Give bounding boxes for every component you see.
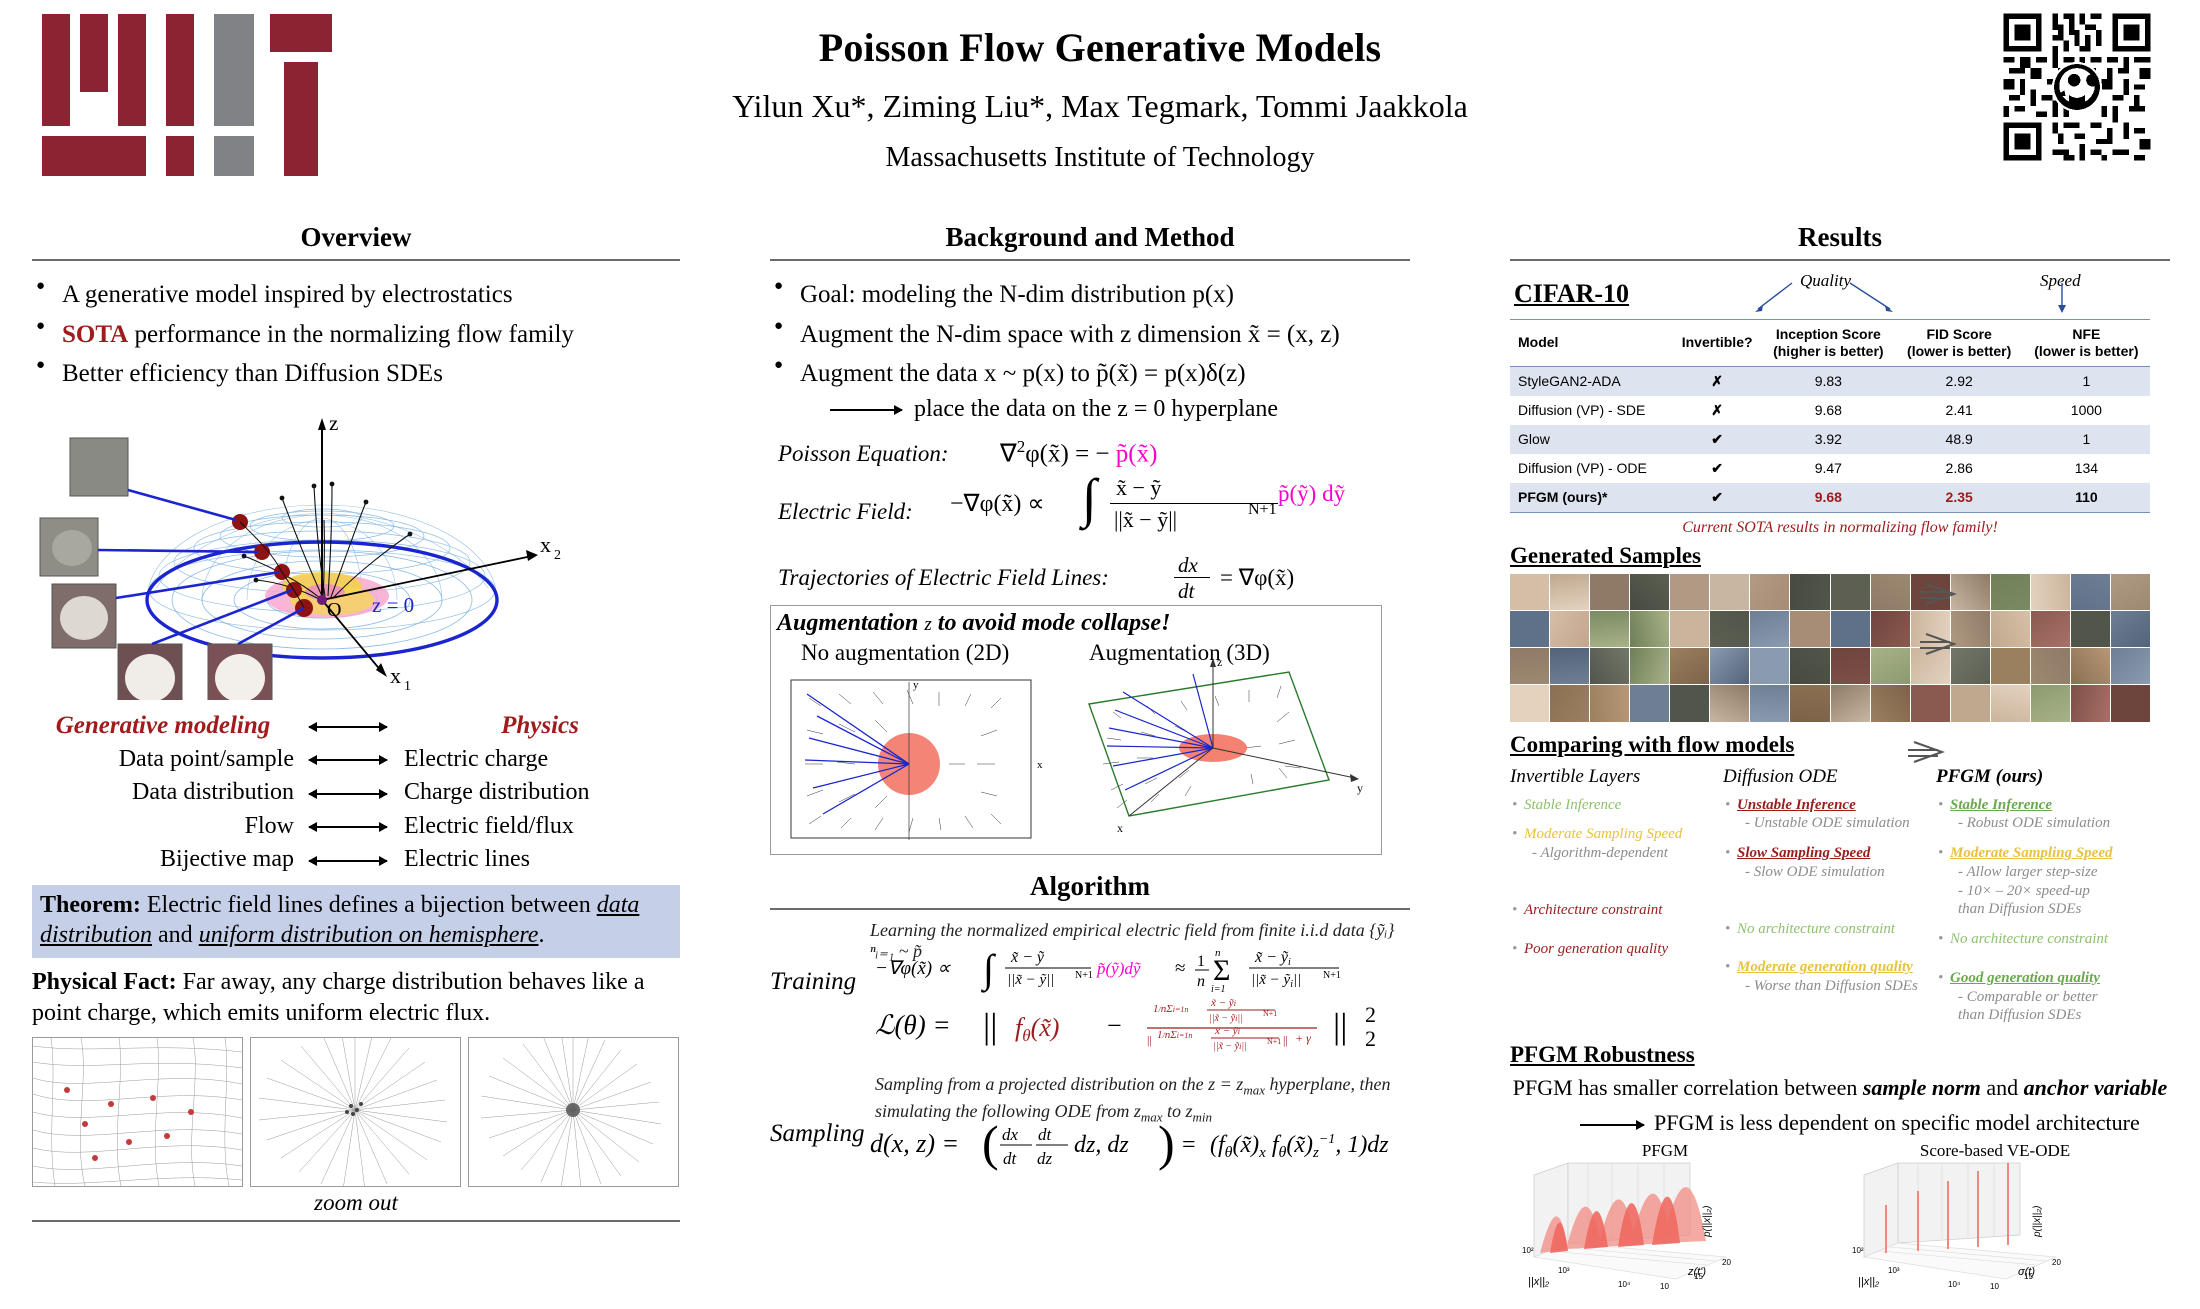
robustness-line2-wrap: PFGM is less dependent on specific model… xyxy=(1510,1109,2170,1138)
svg-text:||: || xyxy=(1147,1033,1152,1047)
comparison-item: Stable Inference xyxy=(1510,796,1723,815)
comparison-item-text: Poor generation quality xyxy=(1524,941,1668,957)
generated-sample-tile xyxy=(1510,685,1549,721)
svg-text:x̃ − ỹi: x̃ − ỹi xyxy=(1254,949,1291,968)
svg-text:x̃ − ỹi: x̃ − ỹi xyxy=(1210,997,1236,1009)
svg-text:||x̃ − ỹi||: ||x̃ − ỹi|| xyxy=(1209,1013,1243,1024)
cell-fid: 2.41 xyxy=(1896,396,2023,425)
bullet-text: A generative model inspired by electrost… xyxy=(62,281,513,308)
correspondence-right: Electric charge xyxy=(396,746,676,772)
cell-invertible: ✔ xyxy=(1673,483,1761,513)
robustness-line2: PFGM is less dependent on specific model… xyxy=(1654,1110,2140,1135)
zoom-out-caption: zoom out xyxy=(32,1190,680,1216)
comparison-item-text: No architecture constraint xyxy=(1737,921,1895,937)
bullet-text: Augment the data x ~ p(x) to p̃(x̃) = p(… xyxy=(800,360,1246,387)
col-header-invertible: Invertible? xyxy=(1673,320,1761,367)
electric-field-numerator: x̃ − ỹ xyxy=(1116,475,1161,501)
svg-text:dt: dt xyxy=(1038,1125,1053,1144)
svg-text:d(x, z) =: d(x, z) = xyxy=(870,1129,959,1158)
field-plot-near xyxy=(32,1037,243,1187)
generated-sample-tile xyxy=(1590,685,1629,721)
comparison-item-text: Moderate Sampling Speed xyxy=(1950,845,2113,861)
plane-label: z = 0 xyxy=(372,593,414,617)
robustness-bold-1: sample norm xyxy=(1863,1075,1981,1100)
svg-text:2: 2 xyxy=(1365,1002,1376,1027)
generated-sample-tile xyxy=(1750,574,1789,610)
comparison-item: Architecture constraint xyxy=(1510,901,1723,920)
generated-sample-tile xyxy=(1550,685,1589,721)
fact-label: Physical Fact: xyxy=(32,969,177,995)
comparison-item-text: Moderate generation quality xyxy=(1737,959,1913,975)
cell-inception: 3.92 xyxy=(1761,425,1896,454)
z-axis-label: p(||x||₂) xyxy=(1702,1206,1713,1238)
table-row: Flow Electric field/flux xyxy=(32,813,680,839)
comparison-item-sub: - Worse than Diffusion SDEs xyxy=(1737,977,1936,996)
svg-text:n: n xyxy=(1215,947,1221,959)
generated-sample-tile xyxy=(1790,685,1829,721)
comparison-item-text: Moderate Sampling Speed xyxy=(1524,826,1682,842)
x-tick: 10⁴ xyxy=(1948,1280,1961,1289)
cell-nfe: 1 xyxy=(2023,366,2150,396)
correspondence-right: Electric lines xyxy=(396,846,676,872)
generated-sample-tile xyxy=(2111,574,2150,610)
generated-sample-tile xyxy=(1630,685,1669,721)
trajectory-label: Trajectories of Electric Field Lines: xyxy=(778,565,1109,591)
comparison-item: Moderate generation quality - Worse than… xyxy=(1723,958,1936,996)
overview-heading: Overview xyxy=(32,222,680,253)
comparison-item-text: Slow Sampling Speed xyxy=(1737,845,1870,861)
generated-sample-tile xyxy=(2071,611,2110,647)
double-arrow-icon xyxy=(300,813,396,839)
correspondence-left: Bijective map xyxy=(32,846,300,872)
electric-field-tail: p̃(ỹ) dỹ xyxy=(1278,481,1345,507)
theorem-emphasis-2: uniform distribution on hemisphere xyxy=(199,922,539,948)
training-equation-top: −∇φ(x̃) ∝ ∫ x̃ − ỹ ||x̃ − ỹ|| N+1 p̃(y… xyxy=(875,944,1405,996)
list-item: SOTA performance in the normalizing flow… xyxy=(32,317,680,353)
generated-sample-tile xyxy=(1951,574,1990,610)
svg-text:||x̃ − ỹ||: ||x̃ − ỹ|| xyxy=(1007,972,1054,988)
x-tick: 10² xyxy=(1522,1246,1534,1255)
method-sub-arrow-line: place the data on the z = 0 hyperplane xyxy=(770,396,1410,423)
comparison-item: Slow Sampling Speed - Slow ODE simulatio… xyxy=(1723,844,1936,882)
electric-field-denominator: ||x̃ − ỹ|| xyxy=(1114,507,1177,533)
generated-sample-tile xyxy=(1710,611,1749,647)
col-header-nfe: NFE (lower is better) xyxy=(2023,320,2150,367)
svg-text:||: || xyxy=(1333,1006,1347,1046)
zoom-out-rule xyxy=(32,1220,680,1222)
generated-sample-tile xyxy=(1630,574,1669,610)
sampling-equation: d(x, z) = ( dx dt dt dz dz, dz ) = (fθ(x… xyxy=(870,1114,1410,1174)
sampling-caption-1c: hyperplane, then xyxy=(1265,1074,1390,1094)
cell-model: StyleGAN2-ADA xyxy=(1510,366,1673,396)
cell-fid: 2.86 xyxy=(1896,454,2023,483)
cell-fid: 2.92 xyxy=(1896,366,2023,396)
poster-root: Poisson Flow Generative Models Yilun Xu*… xyxy=(0,0,2200,1309)
generated-sample-tile xyxy=(2071,574,2110,610)
x-axis-label: ||x||₂ xyxy=(1858,1276,1880,1288)
col-header-fid-main: FID Score xyxy=(1926,326,1991,342)
comparison-item: Moderate Sampling Speed - Algorithm-depe… xyxy=(1510,825,1723,863)
x-tick: 10³ xyxy=(1558,1266,1570,1275)
cell-inception: 9.83 xyxy=(1761,366,1896,396)
generated-sample-tile xyxy=(1550,648,1589,684)
axis-label-x: x xyxy=(1037,759,1043,771)
axis-label-z: z xyxy=(1217,656,1222,669)
table-header-row: Model Invertible? Inception Score (highe… xyxy=(1510,320,2150,367)
comparison-item-text: No architecture constraint xyxy=(1950,931,2108,947)
origin-label: O xyxy=(327,599,341,621)
annotation-arrows xyxy=(1510,269,2150,317)
cell-invertible: ✗ xyxy=(1673,396,1761,425)
generated-sample-tile xyxy=(1670,648,1709,684)
svg-text:p̃(ỹ)dỹ: p̃(ỹ)dỹ xyxy=(1096,959,1141,978)
affiliation: Massachusetts Institute of Technology xyxy=(400,142,1800,174)
x-tick: 10² xyxy=(1852,1246,1864,1255)
theorem-text-2: and xyxy=(152,922,199,948)
algorithm-training-block: Training Learning the normalized empiric… xyxy=(770,920,1410,1060)
generated-sample-tile xyxy=(1710,648,1749,684)
col-header-nfe-sub: (lower is better) xyxy=(2034,343,2138,359)
generated-sample-tile xyxy=(1750,685,1789,721)
generated-sample-tile xyxy=(1951,685,1990,721)
comparison-item: Good generation quality - Comparable or … xyxy=(1936,969,2149,1025)
svg-text:N+1: N+1 xyxy=(1075,970,1093,981)
right-arrow-icon xyxy=(830,409,902,411)
generated-sample-tile xyxy=(1991,648,2030,684)
generated-sample-tile xyxy=(1911,648,1950,684)
list-item: A generative model inspired by electrost… xyxy=(32,277,680,313)
x-tick: 10³ xyxy=(1888,1266,1900,1275)
generated-sample-tile xyxy=(1991,685,2030,721)
z-axis-label: p(||x||₂) xyxy=(2032,1206,2043,1238)
method-heading: Background and Method xyxy=(770,222,1410,253)
cell-nfe: 110 xyxy=(2023,483,2150,513)
table-row: Diffusion (VP) - SDE ✗ 9.68 2.41 1000 xyxy=(1510,396,2150,425)
generated-sample-tile xyxy=(1831,611,1870,647)
cell-nfe: 134 xyxy=(2023,454,2150,483)
svg-text:N+1: N+1 xyxy=(1323,970,1341,981)
robustness-line1: PFGM has smaller correlation between sam… xyxy=(1510,1074,2170,1103)
theorem-label: Theorem: xyxy=(40,892,141,918)
generated-sample-tile xyxy=(2071,648,2110,684)
axis-label-z: z xyxy=(329,411,338,435)
cell-model: Diffusion (VP) - SDE xyxy=(1510,396,1673,425)
trajectory-numerator: dx xyxy=(1178,553,1198,578)
svg-text:−∇φ(x̃) ∝: −∇φ(x̃) ∝ xyxy=(875,958,951,979)
bullet-text: Better efficiency than Diffusion SDEs xyxy=(62,360,443,387)
col-header-fid-sub: (lower is better) xyxy=(1907,343,2011,359)
double-arrow-icon xyxy=(300,846,396,872)
physical-fact: Physical Fact: Far away, any charge dist… xyxy=(32,967,680,1029)
generated-sample-tile xyxy=(1831,648,1870,684)
generated-sample-tile xyxy=(1911,574,1950,610)
comparison-item-sub: - Algorithm-dependent xyxy=(1524,844,1723,863)
col-header-inception: Inception Score (higher is better) xyxy=(1761,320,1896,367)
svg-text:n: n xyxy=(1197,973,1205,990)
augmentation-title-pre: Augmentation xyxy=(777,610,924,636)
svg-text:dt: dt xyxy=(1003,1149,1018,1168)
robustness-plot-veode: Score-based VE-ODE xyxy=(1840,1141,2150,1302)
list-item: Goal: modeling the N-dim distribution p(… xyxy=(770,277,1410,313)
correspondence-left-header: Generative modeling xyxy=(32,712,300,740)
svg-text:dz: dz xyxy=(1037,1149,1053,1168)
svg-text:N+1: N+1 xyxy=(1263,1009,1277,1018)
double-arrow-icon xyxy=(300,779,396,805)
comparison-column-invertible: Invertible Layers Stable Inference Moder… xyxy=(1510,766,1723,1037)
cell-fid: 48.9 xyxy=(1896,425,2023,454)
comparison-item-text: Stable Inference xyxy=(1950,797,2052,813)
svg-text:||: || xyxy=(983,1006,997,1046)
bullet-text: Goal: modeling the N-dim distribution p(… xyxy=(800,281,1234,308)
method-sub-arrow-text: place the data on the z = 0 hyperplane xyxy=(914,396,1278,422)
column-results: Results CIFAR-10 Quality Speed Model xyxy=(1510,222,2170,1302)
comparison-item-text: Good generation quality xyxy=(1950,970,2100,986)
svg-text:∫: ∫ xyxy=(980,946,997,993)
column-method: Background and Method Goal: modeling the… xyxy=(770,222,1410,1182)
augmentation-figure-box: Augmentation z to avoid mode collapse! N… xyxy=(770,605,1382,855)
svg-text:1/nΣi=1n: 1/nΣi=1n xyxy=(1153,1003,1188,1015)
col-header-fid: FID Score (lower is better) xyxy=(1896,320,2023,367)
augmentation-title-post: to avoid mode collapse! xyxy=(932,610,1171,636)
generated-sample-tile xyxy=(1911,611,1950,647)
axis-label-x2-sub: 2 xyxy=(554,548,561,563)
svg-text:N+1: N+1 xyxy=(1267,1037,1281,1046)
augmentation-left-caption: No augmentation (2D) xyxy=(801,640,1009,666)
theorem-text-3: . xyxy=(538,922,544,948)
svg-text:1: 1 xyxy=(1197,953,1205,970)
results-table: Model Invertible? Inception Score (highe… xyxy=(1510,319,2150,513)
comparison-column-header: PFGM (ours) xyxy=(1936,766,2149,788)
y-axis-label: z(t') xyxy=(1687,1266,1706,1278)
table-row: Diffusion (VP) - ODE ✔ 9.47 2.86 134 xyxy=(1510,454,2150,483)
comparison-item-sub: - Comparable or better than Diffusion SD… xyxy=(1950,988,2149,1026)
cell-nfe: 1 xyxy=(2023,425,2150,454)
comparison-item-text: Architecture constraint xyxy=(1524,902,1662,918)
generated-sample-tile xyxy=(1951,611,1990,647)
generated-sample-tile xyxy=(1670,611,1709,647)
augmentation-title-z: z xyxy=(924,614,931,635)
correspondence-left: Data distribution xyxy=(32,779,300,805)
electric-field-label: Electric Field: xyxy=(778,499,913,525)
sampling-label: Sampling xyxy=(770,1120,864,1148)
sampling-caption-1: Sampling from a projected distribution o… xyxy=(875,1074,1243,1094)
x-tick: 10⁴ xyxy=(1618,1280,1631,1289)
correspondence-left: Flow xyxy=(32,813,300,839)
generated-sample-tile xyxy=(2031,611,2070,647)
generated-samples-grid xyxy=(1510,574,2150,722)
comparison-item-text: Unstable Inference xyxy=(1737,797,1856,813)
comparison-item: Moderate Sampling Speed - Allow larger s… xyxy=(1936,844,2149,919)
augmentation-3d-plot: z y x xyxy=(1063,656,1375,846)
table-row: Data distribution Charge distribution xyxy=(32,779,680,805)
generated-sample-tile xyxy=(2071,685,2110,721)
x-axis-label: ||x||₂ xyxy=(1528,1276,1550,1288)
svg-text:fθ(x̃): fθ(x̃) xyxy=(1015,1013,1059,1045)
sota-note: Current SOTA results in normalizing flow… xyxy=(1510,519,2170,537)
y-tick: 20 xyxy=(1722,1258,1731,1267)
table-row: Glow ✔ 3.92 48.9 1 xyxy=(1510,425,2150,454)
augmentation-2d-plot: y x xyxy=(789,672,1059,844)
sota-badge: SOTA xyxy=(62,321,128,348)
generated-sample-tile xyxy=(1951,648,1990,684)
poisson-equation-label: Poisson Equation: xyxy=(778,441,949,467)
training-label: Training xyxy=(770,968,856,996)
generated-sample-tile xyxy=(1590,611,1629,647)
comparison-column-diffusion: Diffusion ODE Unstable Inference - Unsta… xyxy=(1723,766,1936,1037)
results-table-annotations: CIFAR-10 Quality Speed xyxy=(1510,269,2170,317)
col-header-invertible-main: Invertible? xyxy=(1682,334,1753,350)
axis-label-x: x xyxy=(1117,821,1123,835)
algorithm-rule xyxy=(770,908,1410,910)
col-header-model-main: Model xyxy=(1518,334,1558,350)
generated-sample-tile xyxy=(2111,611,2150,647)
svg-text:2: 2 xyxy=(1365,1026,1376,1051)
zoom-out-figure-strip xyxy=(32,1037,680,1187)
results-heading: Results xyxy=(1510,222,2170,253)
generated-sample-tile xyxy=(1550,611,1589,647)
generated-sample-tile xyxy=(2111,685,2150,721)
y-tick: 20 xyxy=(2052,1258,2061,1267)
cell-model: Diffusion (VP) - ODE xyxy=(1510,454,1673,483)
mit-logo xyxy=(42,6,332,176)
col-header-model: Model xyxy=(1510,320,1673,367)
col-header-inception-main: Inception Score xyxy=(1776,326,1881,342)
generated-sample-tile xyxy=(1871,574,1910,610)
robustness-bold-2: anchor variable xyxy=(2024,1075,2168,1100)
double-arrow-icon xyxy=(300,746,396,772)
trajectory-rhs: = ∇φ(x̃) xyxy=(1220,565,1294,591)
cell-model: Glow xyxy=(1510,425,1673,454)
sampling-caption-1b: max xyxy=(1243,1082,1265,1097)
axis-label-y: y xyxy=(1357,781,1363,795)
comparison-item-sub: - Slow ODE simulation xyxy=(1737,863,1936,882)
comparison-column-header: Diffusion ODE xyxy=(1723,766,1936,788)
correspondence-right: Charge distribution xyxy=(396,779,676,805)
robustness-plots: PFGM xyxy=(1510,1141,2170,1302)
bullet-text: Augment the N-dim space with z dimension… xyxy=(800,321,1340,348)
svg-text:dz, dz: dz, dz xyxy=(1074,1132,1129,1158)
svg-text:ℒ(θ) =: ℒ(θ) = xyxy=(875,1010,951,1040)
generated-sample-tile xyxy=(2111,648,2150,684)
github-qr-icon[interactable] xyxy=(1992,8,2162,166)
augmentation-title: Augmentation z to avoid mode collapse! xyxy=(771,606,1381,637)
method-equations: Poisson Equation: ∇2φ(x̃) = − p̃(x̃) Ele… xyxy=(770,437,1410,597)
comparison-item: No architecture constraint xyxy=(1723,920,1936,939)
cell-fid: 2.35 xyxy=(1896,483,2023,513)
col-header-nfe-main: NFE xyxy=(2072,326,2100,342)
svg-text:=: = xyxy=(1182,1132,1196,1158)
comparison-title: Comparing with flow models xyxy=(1510,732,2170,758)
plot-caption: PFGM xyxy=(1510,1141,1820,1161)
comparison-item: Unstable Inference - Unstable ODE simula… xyxy=(1723,796,1936,834)
generated-sample-tile xyxy=(1510,574,1549,610)
axis-label-x1: x xyxy=(390,663,401,688)
field-plot-far xyxy=(468,1037,679,1187)
integral-icon: ∫ xyxy=(1082,471,1097,525)
generated-sample-tile xyxy=(1670,574,1709,610)
generated-sample-tile xyxy=(1510,648,1549,684)
generated-sample-tile xyxy=(1790,574,1829,610)
overview-rule xyxy=(32,259,680,261)
robustness-line1-pre: PFGM has smaller correlation between xyxy=(1513,1075,1863,1100)
generated-sample-tile xyxy=(1831,574,1870,610)
robustness-title: PFGM Robustness xyxy=(1510,1042,2170,1068)
svg-text:−: − xyxy=(1107,1011,1122,1040)
y-tick: 10 xyxy=(1660,1282,1669,1291)
loss-equation: ℒ(θ) = || fθ(x̃) − 1/nΣi=1n x̃ − ỹi ||x… xyxy=(875,992,1415,1062)
generated-sample-tile xyxy=(1710,685,1749,721)
generated-sample-tile xyxy=(1871,648,1910,684)
electric-field-exponent: N+1 xyxy=(1248,501,1277,519)
svg-text:||x̃ − ỹi||: ||x̃ − ỹi|| xyxy=(1251,972,1301,990)
generated-sample-tile xyxy=(1831,685,1870,721)
robustness-plot-pfgm: PFGM xyxy=(1510,1141,1820,1302)
generated-sample-tile xyxy=(1590,648,1629,684)
robustness-line1-mid: and xyxy=(1981,1075,2024,1100)
table-row: StyleGAN2-ADA ✗ 9.83 2.92 1 xyxy=(1510,366,2150,396)
cell-inception: 9.68 xyxy=(1761,483,1896,513)
cell-invertible: ✗ xyxy=(1673,366,1761,396)
algorithm-heading: Algorithm xyxy=(770,871,1410,902)
comparison-grid: Invertible Layers Stable Inference Moder… xyxy=(1510,766,2170,1037)
generated-sample-tile xyxy=(2031,685,2070,721)
page-title: Poisson Flow Generative Models xyxy=(400,24,1800,71)
svg-text:): ) xyxy=(1158,1115,1175,1171)
table-row: Data point/sample Electric charge xyxy=(32,746,680,772)
correspondence-right: Electric field/flux xyxy=(396,813,676,839)
generated-sample-tile xyxy=(1710,574,1749,610)
list-item: Better efficiency than Diffusion SDEs xyxy=(32,356,680,392)
generated-sample-tile xyxy=(1590,574,1629,610)
field-plot-mid xyxy=(250,1037,461,1187)
cell-invertible: ✔ xyxy=(1673,454,1761,483)
cell-model: PFGM (ours)* xyxy=(1510,483,1673,513)
theorem-text-1: Electric field lines defines a bijection… xyxy=(141,892,597,918)
generated-sample-tile xyxy=(1550,574,1589,610)
generated-sample-tile xyxy=(2031,648,2070,684)
method-bullet-list: Goal: modeling the N-dim distribution p(… xyxy=(770,277,1410,392)
trajectory-denominator: dt xyxy=(1178,579,1194,604)
svg-text:x̃ − ỹ: x̃ − ỹ xyxy=(1010,949,1045,966)
double-arrow-icon xyxy=(300,712,396,738)
svg-text:(fθ(x̃)x fθ(x̃)z−1, 1)dz: (fθ(x̃)x fθ(x̃)z−1, 1)dz xyxy=(1210,1132,1389,1161)
axis-label-y: y xyxy=(913,679,919,691)
generated-sample-tile xyxy=(1871,611,1910,647)
cell-inception: 9.68 xyxy=(1761,396,1896,425)
cell-invertible: ✔ xyxy=(1673,425,1761,454)
correspondence-right-header: Physics xyxy=(396,712,676,740)
cell-inception: 9.47 xyxy=(1761,454,1896,483)
poisson-equation-body: ∇2φ(x̃) = − p̃(x̃) xyxy=(1000,437,1157,468)
algorithm-sampling-block: Sampling Sampling from a projected distr… xyxy=(770,1072,1410,1182)
svg-text:||: || xyxy=(1283,1033,1288,1047)
generated-sample-tile xyxy=(1670,685,1709,721)
comparison-item-sub: - Robust ODE simulation xyxy=(1950,814,2149,833)
table-row: PFGM (ours)* ✔ 9.68 2.35 110 xyxy=(1510,483,2150,513)
axis-label-x2: x xyxy=(540,532,551,557)
hemisphere-diagram: z x 2 x 1 xyxy=(32,400,680,700)
svg-text:+ γ: + γ xyxy=(1295,1031,1311,1045)
correspondence-table: Generative modeling Physics Data point/s… xyxy=(32,712,680,873)
author-list: Yilun Xu*, Ziming Liu*, Max Tegmark, Tom… xyxy=(400,88,1800,125)
column-overview: Overview A generative model inspired by … xyxy=(32,222,680,1222)
comparison-item-text: Stable Inference xyxy=(1524,797,1621,813)
theorem-box: Theorem: Electric field lines defines a … xyxy=(32,885,680,958)
results-rule xyxy=(1510,259,2170,261)
plot-caption: Score-based VE-ODE xyxy=(1840,1141,2150,1161)
y-tick: 10 xyxy=(1990,1282,1999,1291)
overview-bullet-list: A generative model inspired by electrost… xyxy=(32,277,680,392)
